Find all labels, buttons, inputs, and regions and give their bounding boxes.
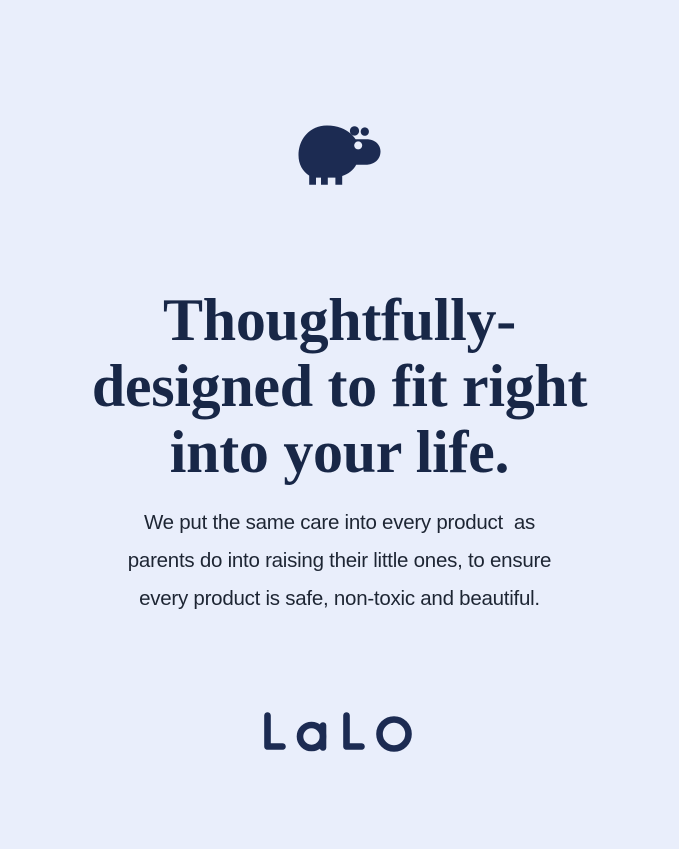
body-line-1: We put the same care into every product … (72, 504, 607, 542)
body-line-3: every product is safe, non-toxic and bea… (72, 580, 607, 618)
marketing-poster: Thoughtfully- designed to fit right into… (0, 0, 679, 849)
wordmark-letter-l1 (267, 716, 282, 747)
headline-line-3: into your life. (42, 419, 637, 485)
hippo-eye (354, 141, 362, 149)
headline-line-2: designed to fit right (42, 353, 637, 419)
body-paragraph: We put the same care into every product … (0, 504, 679, 618)
headline-line-1: Thoughtfully- (42, 287, 637, 353)
lalo-wordmark (260, 706, 420, 758)
wordmark-letter-o (379, 720, 408, 749)
headline: Thoughtfully- designed to fit right into… (0, 287, 679, 485)
wordmark-letter-l2 (346, 716, 361, 747)
wordmark-letter-a-bowl (300, 725, 323, 748)
hippo-logo-icon (294, 118, 386, 194)
body-line-2: parents do into raising their little one… (72, 542, 607, 580)
